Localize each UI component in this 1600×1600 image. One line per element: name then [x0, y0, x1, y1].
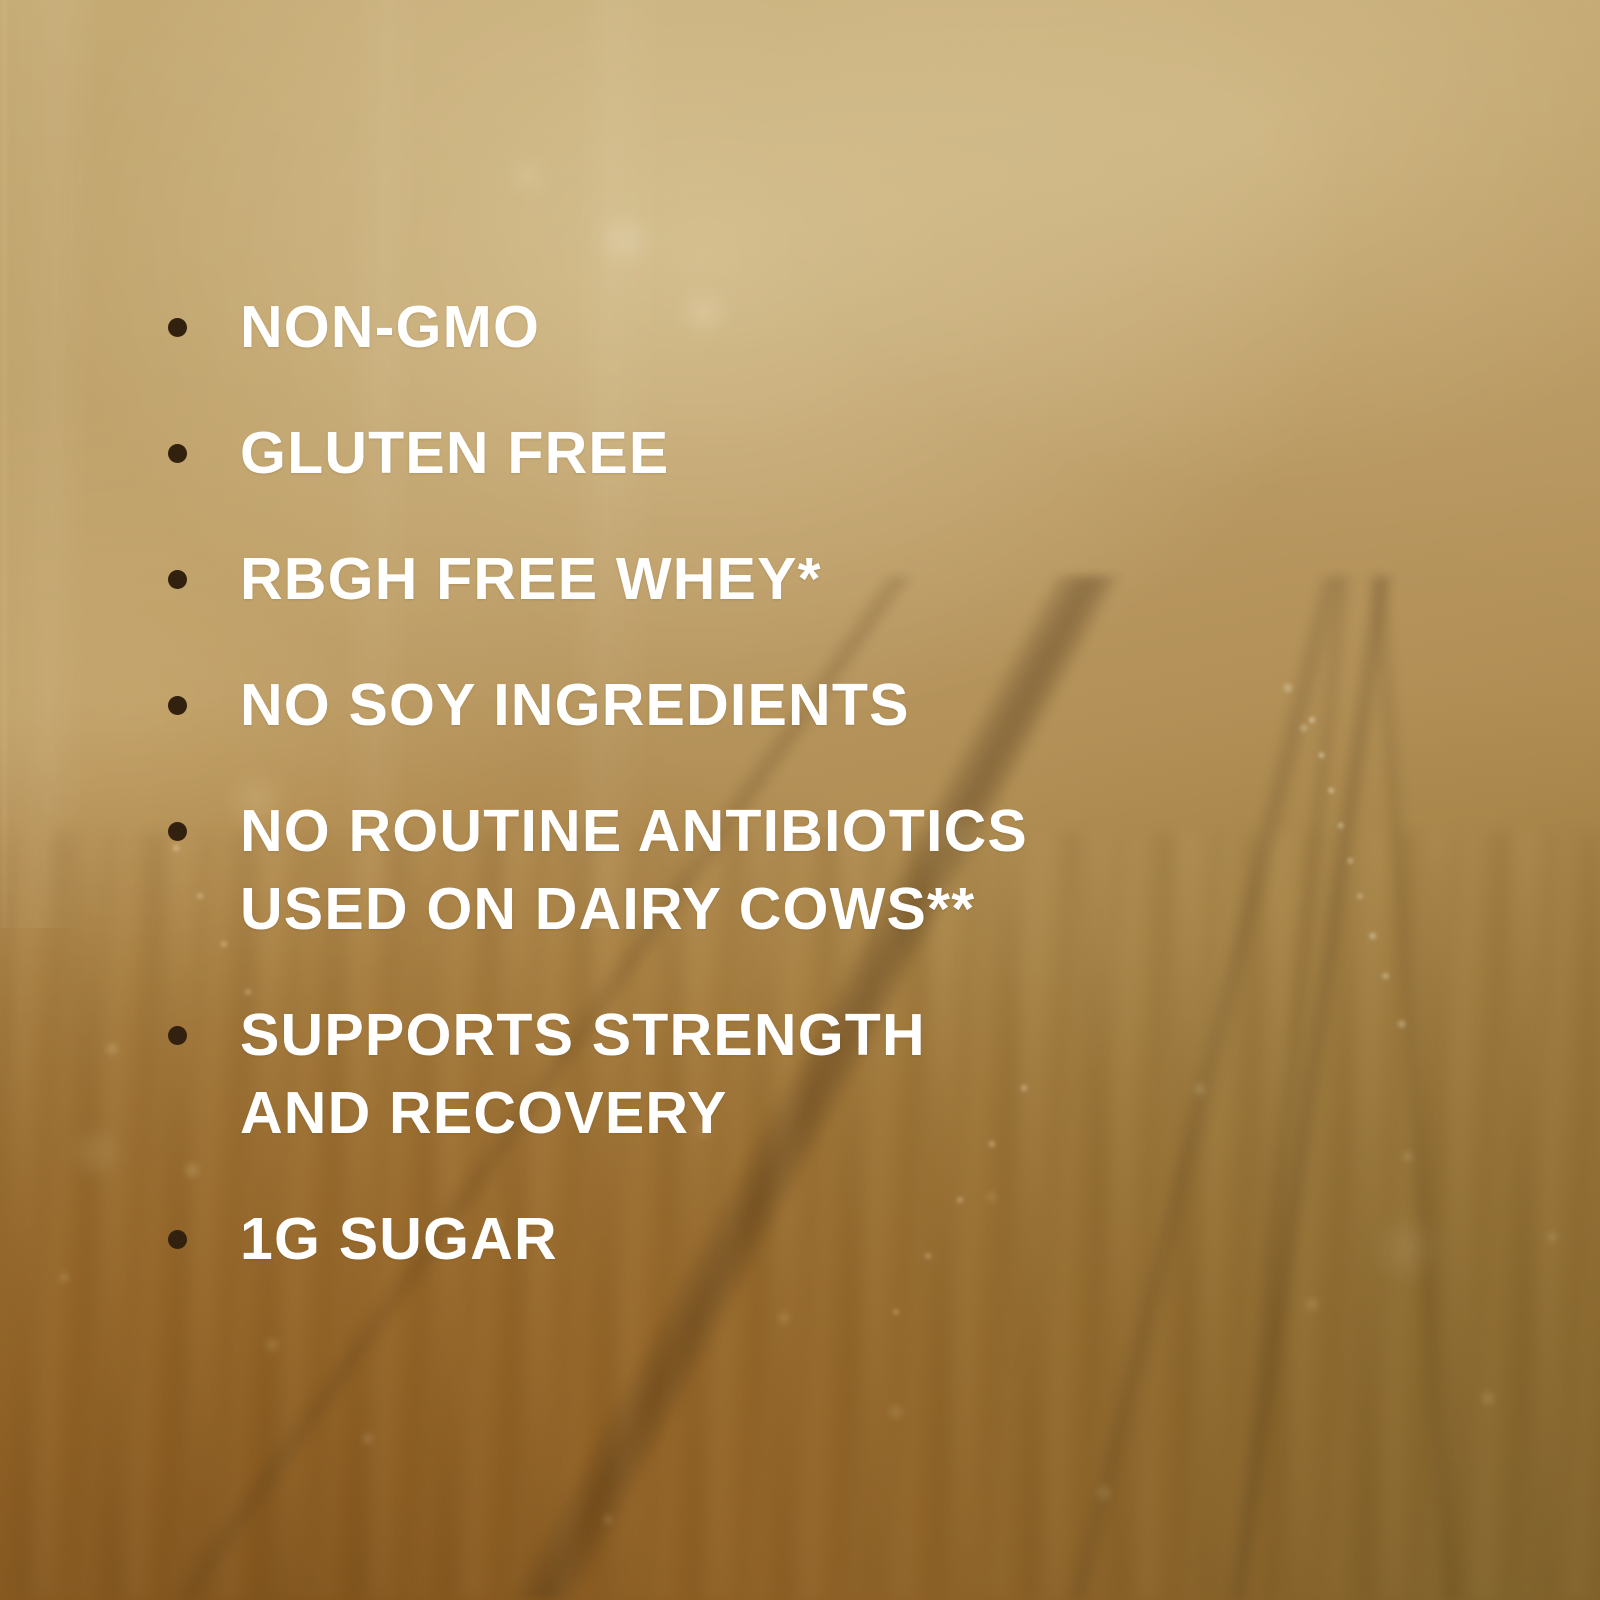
bullet-dot-icon [168, 1026, 187, 1045]
benefits-list: NON-GMO GLUTEN FREE RBGH FREE WHEY* NO S… [158, 288, 1258, 1278]
benefit-item-supports-strength-recovery: SUPPORTS STRENGTH AND RECOVERY [158, 996, 1258, 1152]
benefit-label: GLUTEN FREE [240, 414, 1258, 492]
benefit-label: NO SOY INGREDIENTS [240, 666, 1258, 744]
benefit-label: NO ROUTINE ANTIBIOTICS USED ON DAIRY COW… [240, 792, 1258, 948]
bullet-dot-icon [168, 1230, 187, 1249]
benefit-item-no-routine-antibiotics: NO ROUTINE ANTIBIOTICS USED ON DAIRY COW… [158, 792, 1258, 948]
bullet-dot-icon [168, 696, 187, 715]
benefit-item-rbgh-free-whey: RBGH FREE WHEY* [158, 540, 1258, 618]
benefit-label: SUPPORTS STRENGTH AND RECOVERY [240, 996, 1258, 1152]
benefit-item-non-gmo: NON-GMO [158, 288, 1258, 366]
benefit-label: RBGH FREE WHEY* [240, 540, 1258, 618]
product-benefits-panel: NON-GMO GLUTEN FREE RBGH FREE WHEY* NO S… [0, 0, 1600, 1600]
benefit-item-no-soy-ingredients: NO SOY INGREDIENTS [158, 666, 1258, 744]
benefit-item-sugar-content: 1G SUGAR [158, 1200, 1258, 1278]
benefit-item-gluten-free: GLUTEN FREE [158, 414, 1258, 492]
bullet-dot-icon [168, 318, 187, 337]
bullet-dot-icon [168, 444, 187, 463]
bullet-dot-icon [168, 822, 187, 841]
bullet-dot-icon [168, 570, 187, 589]
benefit-label: 1G SUGAR [240, 1200, 1258, 1278]
benefit-label: NON-GMO [240, 288, 1258, 366]
